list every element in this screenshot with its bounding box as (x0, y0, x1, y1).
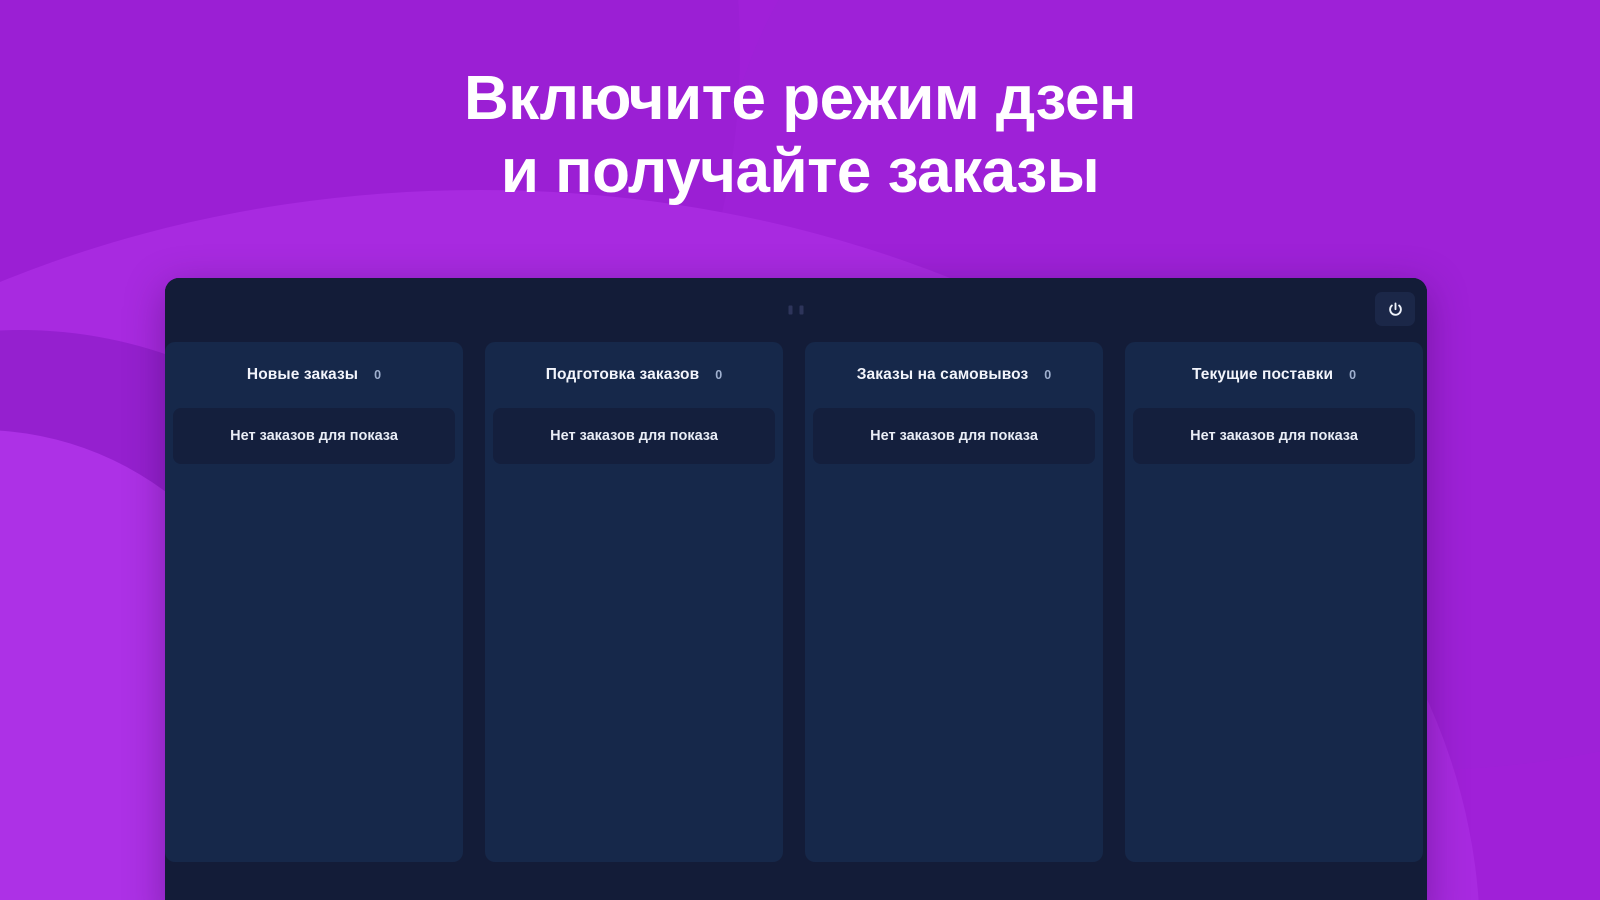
grabber-bar-1 (789, 306, 793, 315)
column-header: Текущие поставки 0 (1125, 342, 1423, 408)
empty-state-text: Нет заказов для показа (550, 428, 718, 444)
board-column-new-orders[interactable]: Новые заказы 0 Нет заказов для показа (165, 342, 463, 862)
board-column-current-deliveries[interactable]: Текущие поставки 0 Нет заказов для показ… (1125, 342, 1423, 862)
column-header: Новые заказы 0 (165, 342, 463, 408)
headline-line-2: и получайте заказы (120, 135, 1480, 208)
column-count-badge: 0 (374, 368, 381, 382)
empty-state-text: Нет заказов для показа (1190, 428, 1358, 444)
orders-board: Новые заказы 0 Нет заказов для показа По… (165, 342, 1427, 900)
headline-line-1: Включите режим дзен (120, 62, 1480, 135)
column-header: Подготовка заказов 0 (485, 342, 783, 408)
promo-headline: Включите режим дзен и получайте заказы (0, 62, 1600, 208)
grabber-bar-2 (800, 306, 804, 315)
empty-state-text: Нет заказов для показа (230, 428, 398, 444)
column-title: Заказы на самовывоз (857, 366, 1029, 384)
app-window: Новые заказы 0 Нет заказов для показа По… (165, 278, 1427, 900)
power-button[interactable] (1375, 292, 1415, 326)
column-header: Заказы на самовывоз 0 (805, 342, 1103, 408)
promo-screen: Включите режим дзен и получайте заказы (0, 0, 1600, 900)
empty-state-text: Нет заказов для показа (870, 428, 1038, 444)
column-empty-state: Нет заказов для показа (813, 408, 1095, 464)
column-title: Подготовка заказов (546, 366, 699, 384)
power-icon (1387, 301, 1404, 318)
board-column-order-preparation[interactable]: Подготовка заказов 0 Нет заказов для пок… (485, 342, 783, 862)
board-column-pickup-orders[interactable]: Заказы на самовывоз 0 Нет заказов для по… (805, 342, 1103, 862)
window-grabber-icon[interactable] (789, 306, 804, 315)
column-count-badge: 0 (1044, 368, 1051, 382)
column-title: Текущие поставки (1192, 366, 1333, 384)
app-titlebar (165, 278, 1427, 342)
column-title: Новые заказы (247, 366, 358, 384)
column-empty-state: Нет заказов для показа (173, 408, 455, 464)
column-empty-state: Нет заказов для показа (1133, 408, 1415, 464)
column-count-badge: 0 (1349, 368, 1356, 382)
column-count-badge: 0 (715, 368, 722, 382)
column-empty-state: Нет заказов для показа (493, 408, 775, 464)
